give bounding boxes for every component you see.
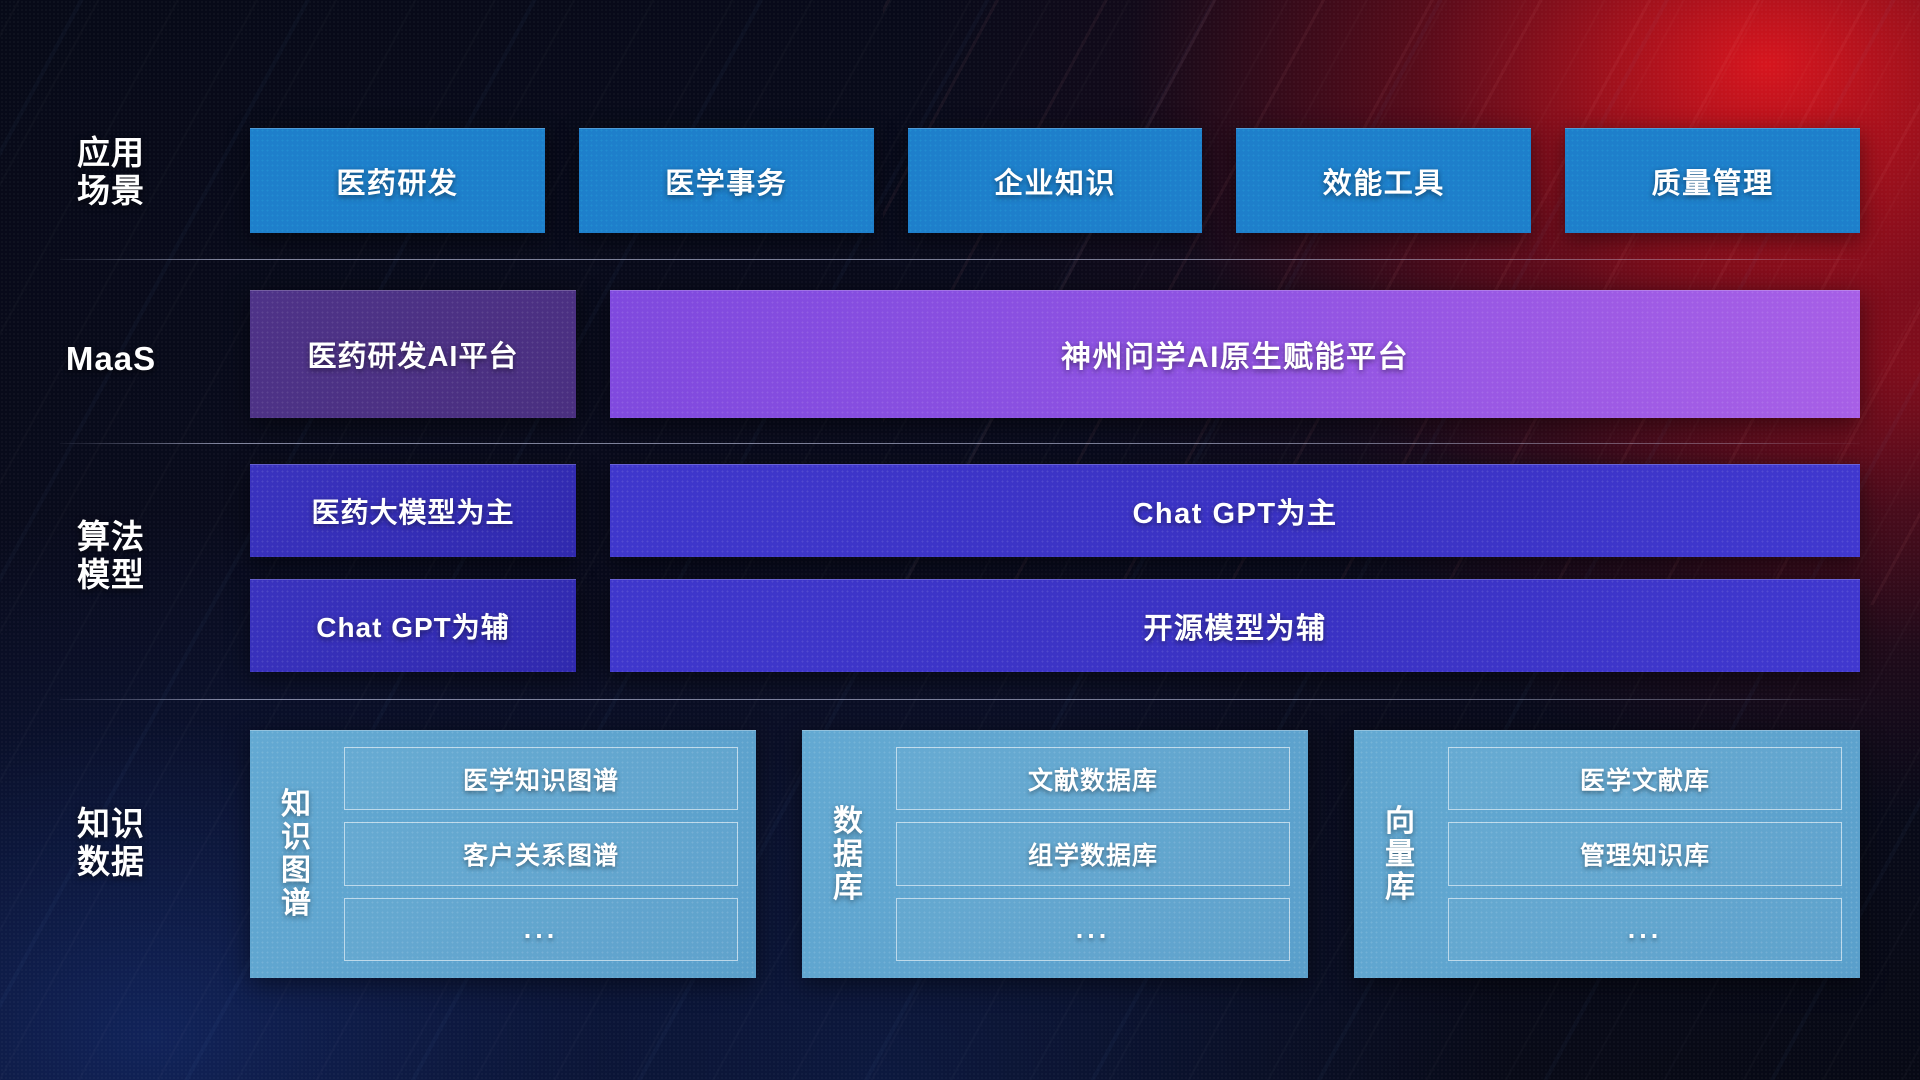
knowledge-panel-title: 知识图谱 [264,747,328,961]
knowledge-panel-title-char: 向 [1385,805,1415,838]
architecture-stack-diagram: 应用 场景 医药研发 医学事务 企业知识 效能工具 质量管理 MaaS 医药研发… [0,0,1920,1080]
app-card-label: 医学事务 [665,160,787,202]
maas-card-medicine-ai-platform[interactable]: 医药研发AI平台 [250,290,576,418]
app-card-label: 质量管理 [1652,160,1774,202]
knowledge-panel-database[interactable]: 数据库 文献数据库 组学数据库 ... [802,730,1308,978]
tier-knowledge-data: 知识图谱 医学知识图谱 客户关系图谱 ... 数据库 文献数据库 组学数据库 .… [60,730,1860,978]
algo-card-label: Chat GPT为主 [1132,490,1337,532]
app-card-enterprise-knowledge[interactable]: 企业知识 [908,128,1203,233]
tier-application-scenarios: 医药研发 医学事务 企业知识 效能工具 质量管理 [60,128,1860,233]
app-card-medical-affairs[interactable]: 医学事务 [579,128,874,233]
maas-card-label: 神州问学AI原生赋能平台 [1061,332,1409,376]
divider-after-algorithm-models [60,699,1860,700]
knowledge-panel-title-char: 图 [281,854,311,887]
algo-row-primary: 医药大模型为主 Chat GPT为主 [250,464,1860,557]
knowledge-panel-title-char: 数 [833,805,863,838]
divider-after-maas [60,443,1860,444]
knowledge-item-medical-knowledge-graph[interactable]: 医学知识图谱 [344,747,738,810]
app-card-label: 效能工具 [1323,160,1445,202]
knowledge-item-literature-database[interactable]: 文献数据库 [896,747,1290,810]
knowledge-item-customer-relation-graph[interactable]: 客户关系图谱 [344,822,738,885]
knowledge-item-more[interactable]: ... [896,898,1290,961]
algo-card-label: 开源模型为辅 [1143,605,1326,647]
knowledge-panel-item-list: 医学知识图谱 客户关系图谱 ... [344,747,738,961]
app-card-efficiency-tools[interactable]: 效能工具 [1236,128,1531,233]
tier-algorithm-models: 医药大模型为主 Chat GPT为主 Chat GPT为辅 开源模型为辅 [60,464,1860,672]
knowledge-item-management-knowledge-store[interactable]: 管理知识库 [1448,822,1842,885]
app-card-label: 企业知识 [994,160,1116,202]
knowledge-panel-vector-store[interactable]: 向量库 医学文献库 管理知识库 ... [1354,730,1860,978]
knowledge-panel-title-char: 库 [833,871,863,904]
knowledge-panel-item-list: 文献数据库 组学数据库 ... [896,747,1290,961]
knowledge-item-medical-literature-store[interactable]: 医学文献库 [1448,747,1842,810]
app-card-medicine-rnd[interactable]: 医药研发 [250,128,545,233]
algo-card-chatgpt-primary[interactable]: Chat GPT为主 [610,464,1860,557]
knowledge-panel-title-char: 库 [1385,871,1415,904]
algo-card-label: Chat GPT为辅 [316,606,510,646]
algo-card-opensource-secondary[interactable]: 开源模型为辅 [610,579,1860,672]
knowledge-panel-title-char: 谱 [281,887,311,920]
maas-card-shenzhou-wenxue-platform[interactable]: 神州问学AI原生赋能平台 [610,290,1860,418]
knowledge-panel-knowledge-graph[interactable]: 知识图谱 医学知识图谱 客户关系图谱 ... [250,730,756,978]
algo-card-medicine-large-model-primary[interactable]: 医药大模型为主 [250,464,576,557]
knowledge-panel-title: 向量库 [1368,747,1432,961]
divider-after-application-scenarios [60,259,1860,260]
tier-maas: 医药研发AI平台 神州问学AI原生赋能平台 [60,290,1860,418]
algo-card-chatgpt-secondary[interactable]: Chat GPT为辅 [250,579,576,672]
knowledge-panel-title: 数据库 [816,747,880,961]
knowledge-item-more[interactable]: ... [1448,898,1842,961]
algo-row-secondary: Chat GPT为辅 开源模型为辅 [250,579,1860,672]
knowledge-panel-title-char: 据 [833,838,863,871]
maas-card-label: 医药研发AI平台 [307,333,518,375]
app-card-quality-management[interactable]: 质量管理 [1565,128,1860,233]
knowledge-item-omics-database[interactable]: 组学数据库 [896,822,1290,885]
knowledge-item-more[interactable]: ... [344,898,738,961]
app-card-label: 医药研发 [336,160,458,202]
knowledge-panel-item-list: 医学文献库 管理知识库 ... [1448,747,1842,961]
knowledge-panel-title-char: 知 [281,788,311,821]
knowledge-panel-title-char: 识 [281,821,311,854]
algo-card-label: 医药大模型为主 [311,491,514,531]
knowledge-panel-title-char: 量 [1385,838,1415,871]
